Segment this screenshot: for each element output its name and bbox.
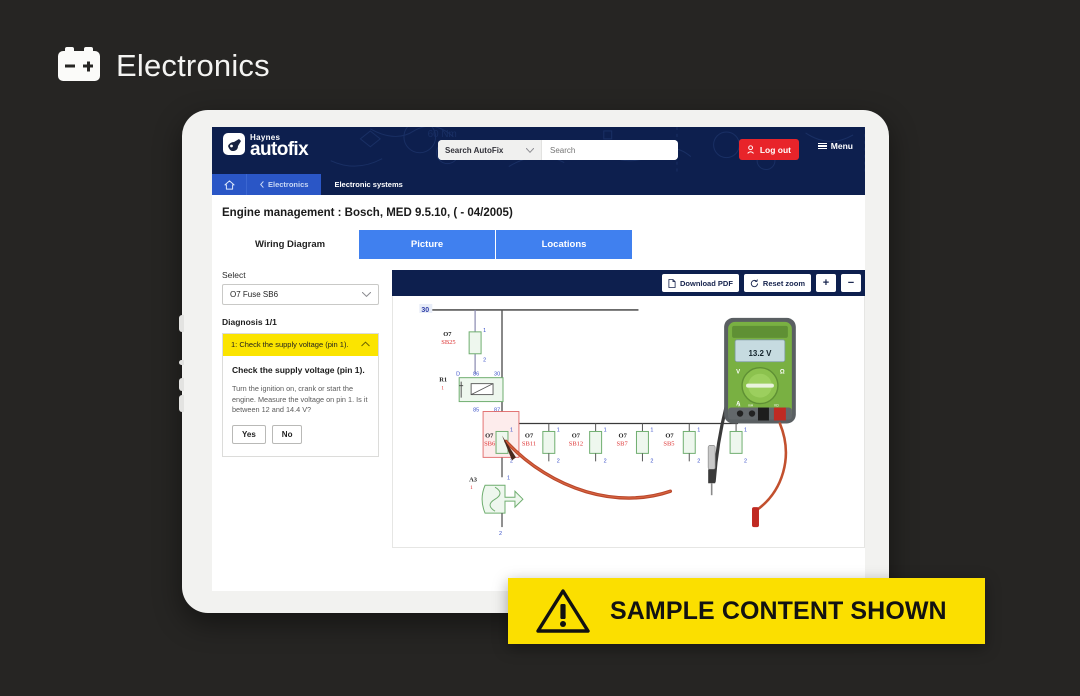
search-category-dropdown[interactable]: Search AutoFix: [438, 140, 542, 160]
battery-icon: [58, 51, 100, 81]
svg-text:1: 1: [604, 427, 607, 433]
svg-text:O7: O7: [485, 432, 494, 439]
svg-text:2: 2: [744, 458, 747, 464]
logout-label: Log out: [760, 145, 791, 155]
app-logo[interactable]: Haynes autofix: [223, 133, 308, 159]
svg-text:2: 2: [650, 458, 653, 464]
svg-text:1: 1: [557, 427, 560, 433]
svg-text:1: 1: [697, 427, 700, 433]
app-body: Engine management : Bosch, MED 9.5.10, (…: [212, 195, 865, 591]
multimeter: 13.2 V V Ω A: [724, 318, 796, 424]
wiring-diagram-svg: 30 O7 SB25 1 2: [393, 296, 864, 547]
search-input[interactable]: [542, 140, 678, 160]
answer-no-button[interactable]: No: [272, 425, 303, 444]
tablet-volume-down-button[interactable]: [179, 378, 184, 391]
svg-text:2: 2: [697, 458, 700, 464]
circuit-select-value: O7 Fuse SB6: [230, 290, 278, 299]
tablet-frame: 60 Nm Haynes autofix: [182, 110, 889, 613]
breadcrumb-home-button[interactable]: [212, 174, 246, 195]
svg-text:SB11: SB11: [522, 440, 536, 447]
tab-locations[interactable]: Locations: [496, 230, 633, 259]
svg-text:1: 1: [470, 485, 473, 491]
svg-text:1: 1: [441, 386, 444, 392]
svg-text:O7: O7: [525, 432, 534, 439]
svg-text:2: 2: [499, 531, 502, 537]
logout-button[interactable]: Log out: [739, 139, 799, 160]
svg-text:2: 2: [483, 358, 486, 364]
svg-text:1: 1: [510, 427, 513, 433]
page-title: Engine management : Bosch, MED 9.5.10, (…: [222, 207, 865, 219]
diagnosis-heading: Diagnosis 1/1: [222, 317, 379, 327]
diagnosis-body: Check the supply voltage (pin 1). Turn t…: [223, 356, 378, 456]
svg-text:R1: R1: [439, 377, 447, 384]
svg-text:30: 30: [494, 372, 500, 378]
svg-text:1: 1: [507, 475, 510, 481]
fuse-group-4: O7 SB7 1 2: [617, 423, 654, 464]
left-panel: Select O7 Fuse SB6 Diagnosis 1/1 1: Chec…: [222, 270, 379, 548]
svg-text:mA: mA: [748, 404, 754, 408]
diagnosis-step-header[interactable]: 1: Check the supply voltage (pin 1).: [223, 334, 378, 356]
sample-content-banner: SAMPLE CONTENT SHOWN: [508, 578, 985, 644]
page-root: Electronics: [0, 0, 1080, 696]
fuse-group-3: O7 SB12 1 2: [569, 423, 607, 464]
content-panes: Select O7 Fuse SB6 Diagnosis 1/1 1: Chec…: [222, 259, 865, 548]
diagnosis-card: 1: Check the supply voltage (pin 1). Che…: [222, 333, 379, 457]
logo-autofix-text: autofix: [250, 140, 308, 159]
sample-banner-label: SAMPLE CONTENT SHOWN: [610, 597, 947, 626]
reset-zoom-button[interactable]: Reset zoom: [744, 274, 811, 292]
svg-text:SB12: SB12: [569, 440, 583, 447]
breadcrumb-current: Electronic systems: [321, 174, 415, 195]
svg-text:60 Nm: 60 Nm: [428, 129, 457, 140]
svg-text:1: 1: [483, 328, 486, 334]
diagnosis-question: Check the supply voltage (pin 1).: [232, 365, 369, 376]
select-label: Select: [222, 270, 379, 280]
menu-label: Menu: [831, 141, 853, 151]
tab-wiring-diagram[interactable]: Wiring Diagram: [222, 230, 359, 259]
svg-text:O7: O7: [443, 331, 452, 338]
chevron-down-icon: [526, 148, 534, 153]
svg-text:A3: A3: [469, 476, 478, 483]
svg-text:SB5: SB5: [663, 440, 674, 447]
circuit-select-dropdown[interactable]: O7 Fuse SB6: [222, 284, 379, 305]
tablet-power-button[interactable]: [179, 395, 184, 412]
svg-text:V: V: [736, 370, 740, 376]
tab-locations-label: Locations: [542, 239, 587, 250]
breadcrumb-item-electronics[interactable]: Electronics: [246, 174, 321, 195]
haynes-logo-mark-icon: [223, 133, 245, 155]
breadcrumb-parent-label: Electronics: [268, 180, 308, 189]
multimeter-reading: 13.2 V: [748, 349, 772, 358]
svg-text:SB25: SB25: [441, 339, 455, 346]
reset-zoom-label: Reset zoom: [763, 279, 805, 288]
diagnosis-description: Turn the ignition on, crank or start the…: [232, 384, 369, 417]
chevron-down-icon: [362, 292, 371, 297]
tab-picture[interactable]: Picture: [359, 230, 496, 259]
tablet-screen: 60 Nm Haynes autofix: [212, 127, 865, 591]
diagram-toolbar: Download PDF Reset zoom + −: [392, 270, 865, 296]
fuse-group-2: O7 SB11 1 2: [522, 423, 560, 464]
svg-text:O7: O7: [619, 432, 628, 439]
svg-text:VΩ: VΩ: [774, 404, 779, 408]
brand-label: Electronics: [116, 48, 270, 84]
download-pdf-label: Download PDF: [680, 279, 733, 288]
svg-text:Ω: Ω: [780, 370, 785, 376]
chevron-left-icon: [260, 181, 264, 188]
tab-wiring-diagram-label: Wiring Diagram: [255, 239, 325, 250]
answer-yes-button[interactable]: Yes: [232, 425, 266, 444]
warning-triangle-icon: [536, 588, 590, 634]
fuse-group-5: O7 SB5 1 2: [663, 423, 700, 464]
home-icon: [224, 180, 235, 190]
svg-text:SB7: SB7: [617, 440, 629, 447]
svg-text:2: 2: [604, 458, 607, 464]
svg-text:SB6: SB6: [484, 440, 496, 447]
svg-text:O7: O7: [572, 432, 581, 439]
svg-text:85: 85: [473, 408, 479, 414]
user-icon: [747, 145, 756, 154]
zoom-out-button[interactable]: −: [841, 274, 861, 292]
search-bar: Search AutoFix: [438, 140, 678, 160]
diagnosis-step-label: 1: Check the supply voltage (pin 1).: [231, 340, 349, 350]
tab-bar: Wiring Diagram Picture Locations: [222, 230, 865, 259]
spanner-icon: [227, 137, 242, 151]
breadcrumb-current-label: Electronic systems: [334, 180, 402, 189]
right-panel: Download PDF Reset zoom + −: [392, 270, 865, 548]
tab-picture-label: Picture: [411, 239, 443, 250]
app-header: 60 Nm Haynes autofix: [212, 127, 865, 174]
breadcrumb: Electronics Electronic systems: [212, 174, 865, 195]
document-icon: [668, 279, 676, 288]
svg-text:86: 86: [473, 372, 479, 378]
svg-text:1: 1: [744, 427, 747, 433]
svg-text:O7: O7: [665, 432, 674, 439]
menu-button[interactable]: Menu: [818, 141, 853, 151]
brand-header: Electronics: [58, 48, 270, 84]
svg-text:D: D: [456, 372, 460, 378]
svg-text:2: 2: [557, 458, 560, 464]
bus-label-30: 30: [421, 307, 429, 314]
download-pdf-button[interactable]: Download PDF: [662, 274, 739, 292]
svg-text:1: 1: [650, 427, 653, 433]
wiring-diagram-canvas[interactable]: 30 O7 SB25 1 2: [392, 296, 865, 548]
zoom-in-button[interactable]: +: [816, 274, 836, 292]
chevron-up-icon: [361, 341, 370, 347]
search-category-label: Search AutoFix: [445, 146, 503, 155]
tablet-indicator-dot: [179, 360, 184, 365]
hamburger-icon: [818, 143, 827, 150]
answer-row: Yes No: [232, 425, 369, 444]
refresh-icon: [750, 279, 759, 288]
tablet-volume-up-button[interactable]: [179, 315, 184, 332]
